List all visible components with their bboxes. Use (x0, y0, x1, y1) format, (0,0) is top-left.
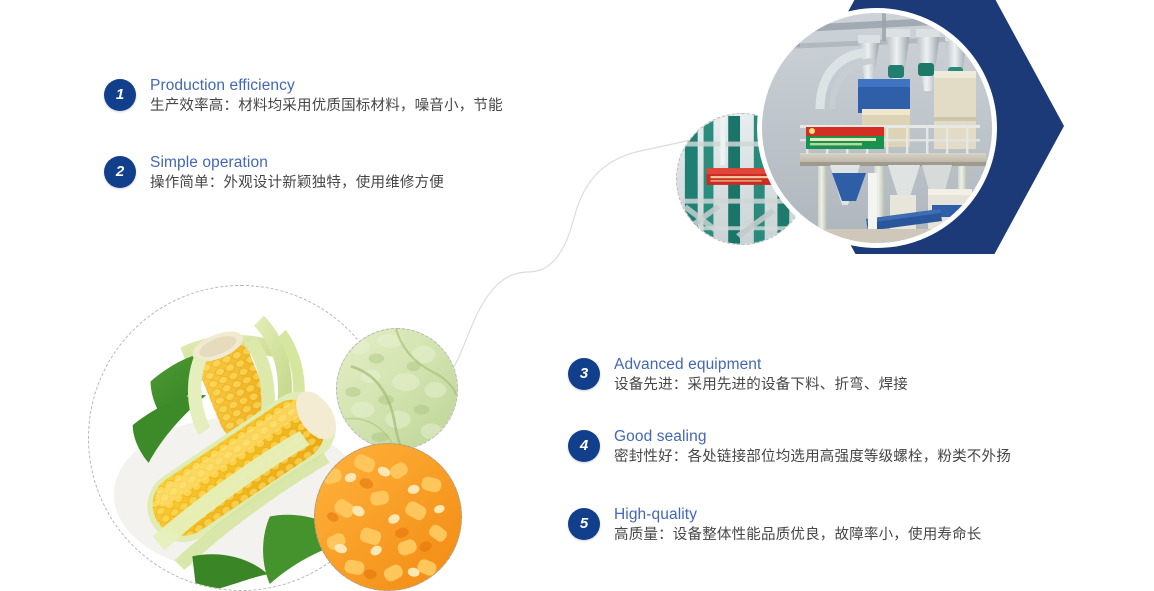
feature-text-3: Advanced equipment 设备先进：采用先进的设备下料、折弯、焊接 (614, 355, 908, 395)
feature-item-4[interactable]: 4 Good sealing 密封性好：各处链接部位均选用高强度等级螺栓，粉类不… (568, 427, 1011, 467)
feature-item-1[interactable]: 1 Production efficiency 生产效率高：材料均采用优质国标材… (104, 76, 503, 116)
feature-text-5: High-quality 高质量：设备整体性能品质优良，故障率小，使用寿命长 (614, 505, 982, 545)
feature-text-1: Production efficiency 生产效率高：材料均采用优质国标材料，… (150, 76, 503, 116)
feature-title-en-5: High-quality (614, 505, 982, 524)
flour-mill-plant-photo (757, 8, 997, 248)
feature-title-en-3: Advanced equipment (614, 355, 908, 374)
feature-badge-1: 1 (104, 79, 136, 111)
feature-title-en-4: Good sealing (614, 427, 1011, 446)
feature-title-zh-1: 生产效率高：材料均采用优质国标材料，噪音小，节能 (150, 96, 503, 116)
orange-corn-grits-photo (314, 443, 462, 591)
feature-title-zh-2: 操作简单：外观设计新颖独特，使用维修方便 (150, 173, 444, 193)
feature-item-3[interactable]: 3 Advanced equipment 设备先进：采用先进的设备下料、折弯、焊… (568, 355, 908, 395)
feature-badge-5: 5 (568, 508, 600, 540)
feature-title-zh-3: 设备先进：采用先进的设备下料、折弯、焊接 (614, 375, 908, 395)
green-corn-paste-photo (336, 328, 458, 450)
feature-text-4: Good sealing 密封性好：各处链接部位均选用高强度等级螺栓，粉类不外扬 (614, 427, 1011, 467)
feature-title-zh-5: 高质量：设备整体性能品质优良，故障率小，使用寿命长 (614, 525, 982, 545)
feature-title-en-1: Production efficiency (150, 76, 503, 95)
feature-text-2: Simple operation 操作简单：外观设计新颖独特，使用维修方便 (150, 153, 444, 193)
feature-item-5[interactable]: 5 High-quality 高质量：设备整体性能品质优良，故障率小，使用寿命长 (568, 505, 982, 545)
feature-badge-4: 4 (568, 430, 600, 462)
feature-title-zh-4: 密封性好：各处链接部位均选用高强度等级螺栓，粉类不外扬 (614, 447, 1011, 467)
infographic-canvas: 1 Production efficiency 生产效率高：材料均采用优质国标材… (0, 0, 1154, 591)
feature-item-2[interactable]: 2 Simple operation 操作简单：外观设计新颖独特，使用维修方便 (104, 153, 444, 193)
feature-badge-3: 3 (568, 358, 600, 390)
feature-title-en-2: Simple operation (150, 153, 444, 172)
feature-badge-2: 2 (104, 156, 136, 188)
